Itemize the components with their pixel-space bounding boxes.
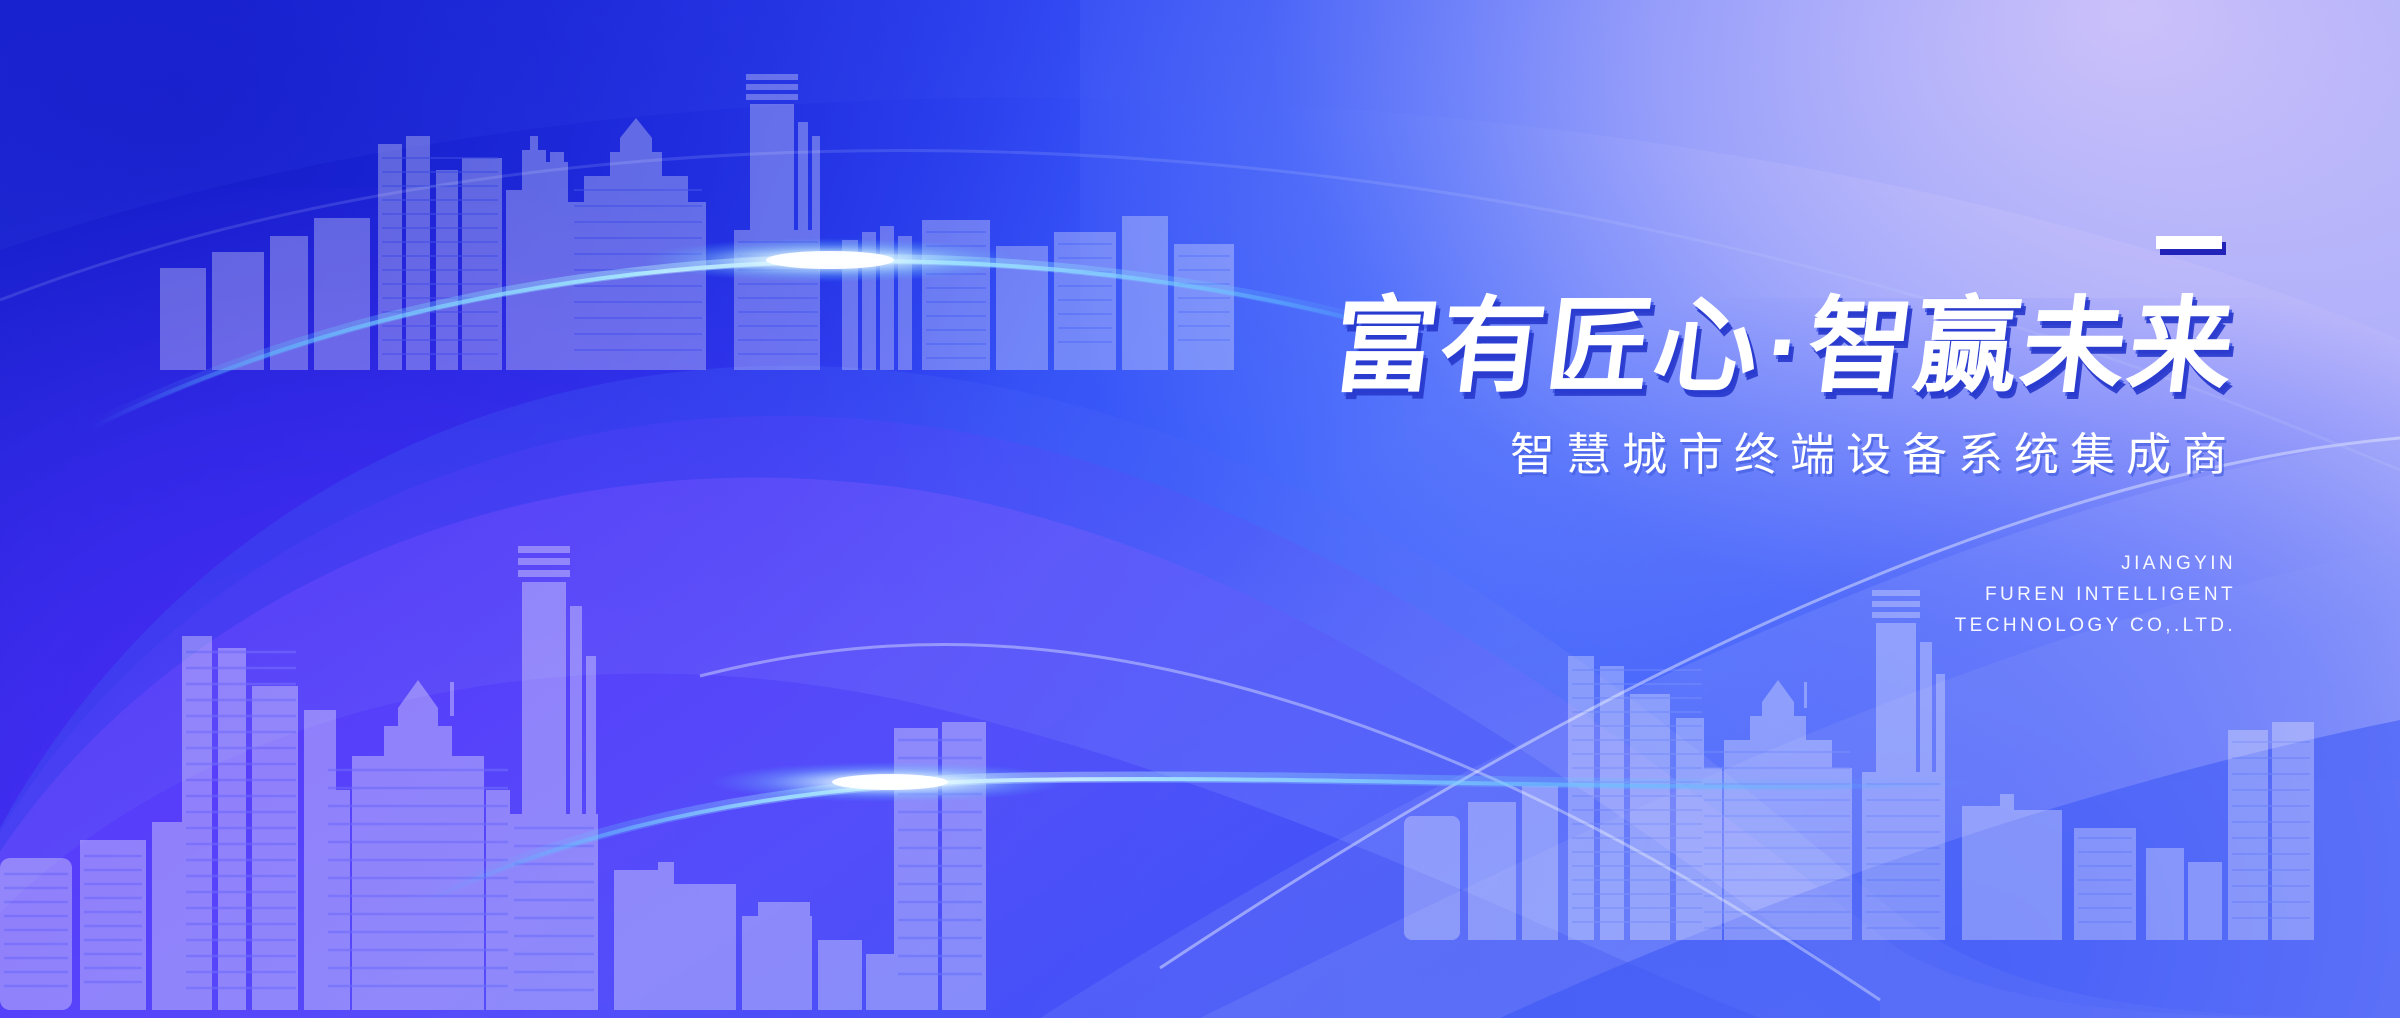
page-title: 富有匠心·智赢未来 — [993, 294, 2246, 400]
company-line-2: FUREN INTELLIGENT — [1000, 580, 2236, 611]
page-subtitle: 智慧城市终端设备系统集成商 — [1000, 418, 2240, 483]
city-skyline-icon — [0, 540, 990, 1010]
glow-arc-icon — [420, 740, 1980, 970]
headline-left: 富有匠心 — [1326, 289, 1768, 405]
banner-text-block: 富有匠心·智赢未来 智慧城市终端设备系统集成商 JIANGYIN FUREN I… — [1000, 236, 2240, 641]
banner-canvas: 富有匠心·智赢未来 智慧城市终端设备系统集成商 JIANGYIN FUREN I… — [0, 0, 2400, 1018]
accent-dash-icon — [2156, 236, 2222, 249]
background-field-top-left — [0, 0, 1080, 820]
company-line-1: JIANGYIN — [1000, 549, 2236, 580]
company-name-block: JIANGYIN FUREN INTELLIGENT TECHNOLOGY CO… — [1000, 549, 2240, 641]
headline-right: 智赢未来 — [1801, 289, 2243, 405]
company-line-3: TECHNOLOGY CO,.LTD. — [1000, 611, 2236, 642]
